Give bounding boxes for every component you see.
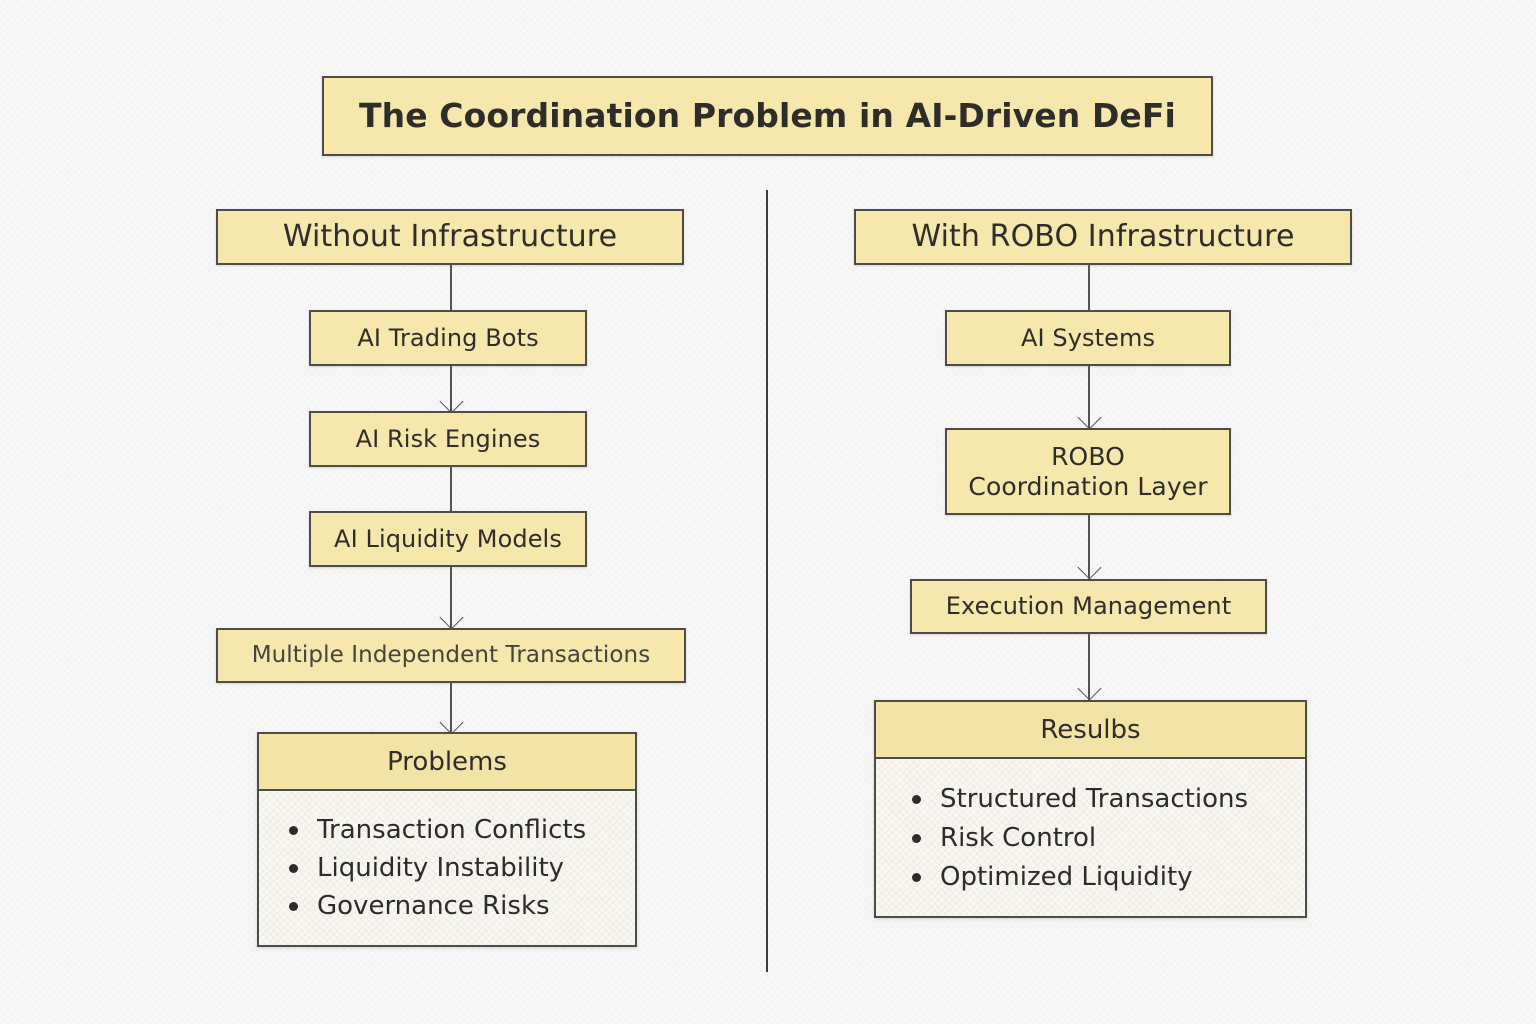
node-execution-management-text: Execution Management: [912, 592, 1265, 620]
node-robo-coordination-layer-text: ROBOCoordination Layer: [947, 442, 1229, 501]
diagram-title: The Coordination Problem in AI-Driven De…: [322, 76, 1213, 156]
problems-list: Transaction Conflicts Liquidity Instabil…: [289, 805, 635, 931]
arrowhead-icon: [439, 710, 463, 734]
node-ai-trading-bots-text: AI Trading Bots: [311, 324, 585, 352]
bullet-icon: [912, 873, 921, 882]
node-ai-liquidity-models: AI Liquidity Models: [309, 511, 587, 567]
list-item-label: Transaction Conflicts: [317, 817, 586, 843]
node-robo-coordination-layer: ROBOCoordination Layer: [945, 428, 1231, 515]
diagram-canvas: The Coordination Problem in AI-Driven De…: [0, 0, 1536, 1024]
column-header-left-text: Without Infrastructure: [218, 219, 682, 254]
panel-problems: Problems Transaction Conflicts Liquidity…: [257, 732, 637, 947]
connector-stem: [450, 467, 452, 511]
list-item: Risk Control: [912, 825, 1305, 851]
list-item-label: Governance Risks: [317, 893, 550, 919]
arrowhead-icon: [439, 389, 463, 413]
list-item-label: Risk Control: [940, 825, 1096, 851]
list-item: Liquidity Instability: [289, 855, 635, 881]
arrowhead-icon: [1077, 405, 1101, 429]
column-header-without-infrastructure: Without Infrastructure: [216, 209, 684, 265]
list-item: Structured Transactions: [912, 786, 1305, 812]
results-list: Structured Transactions Risk Control Opt…: [912, 773, 1305, 903]
node-ai-liquidity-models-text: AI Liquidity Models: [311, 525, 585, 553]
bullet-icon: [289, 826, 298, 835]
node-execution-management: Execution Management: [910, 579, 1267, 634]
list-item: Governance Risks: [289, 893, 635, 919]
list-item: Transaction Conflicts: [289, 817, 635, 843]
node-ai-trading-bots: AI Trading Bots: [309, 310, 587, 366]
list-item: Optimized Liquidity: [912, 864, 1305, 890]
node-ai-risk-engines-text: AI Risk Engines: [311, 425, 585, 453]
panel-results-header-text: Resulbs: [1040, 715, 1140, 745]
list-item-label: Structured Transactions: [940, 786, 1248, 812]
panel-results: Resulbs Structured Transactions Risk Con…: [874, 700, 1307, 918]
panel-problems-body: Transaction Conflicts Liquidity Instabil…: [259, 791, 635, 945]
arrowhead-icon: [1077, 676, 1101, 700]
node-multiple-independent-transactions-text: Multiple Independent Transactions: [218, 642, 684, 669]
diagram-title-text: The Coordination Problem in AI-Driven De…: [324, 97, 1211, 136]
bullet-icon: [912, 795, 921, 804]
node-ai-risk-engines: AI Risk Engines: [309, 411, 587, 467]
panel-results-body: Structured Transactions Risk Control Opt…: [876, 759, 1305, 916]
node-ai-systems-text: AI Systems: [947, 324, 1229, 352]
node-ai-systems: AI Systems: [945, 310, 1231, 366]
panel-problems-header: Problems: [259, 734, 635, 791]
list-item-label: Liquidity Instability: [317, 855, 564, 881]
bullet-icon: [289, 864, 298, 873]
panel-results-header: Resulbs: [876, 702, 1305, 759]
arrowhead-icon: [439, 605, 463, 629]
node-multiple-independent-transactions: Multiple Independent Transactions: [216, 628, 686, 683]
panel-problems-header-text: Problems: [387, 747, 507, 777]
column-divider: [766, 190, 768, 972]
arrowhead-icon: [1077, 555, 1101, 579]
list-item-label: Optimized Liquidity: [940, 864, 1193, 890]
bullet-icon: [912, 834, 921, 843]
connector-stem: [450, 265, 452, 310]
connector-stem: [1088, 265, 1090, 310]
bullet-icon: [289, 902, 298, 911]
column-header-with-robo-infrastructure: With ROBO Infrastructure: [854, 209, 1352, 265]
column-header-right-text: With ROBO Infrastructure: [856, 219, 1350, 254]
